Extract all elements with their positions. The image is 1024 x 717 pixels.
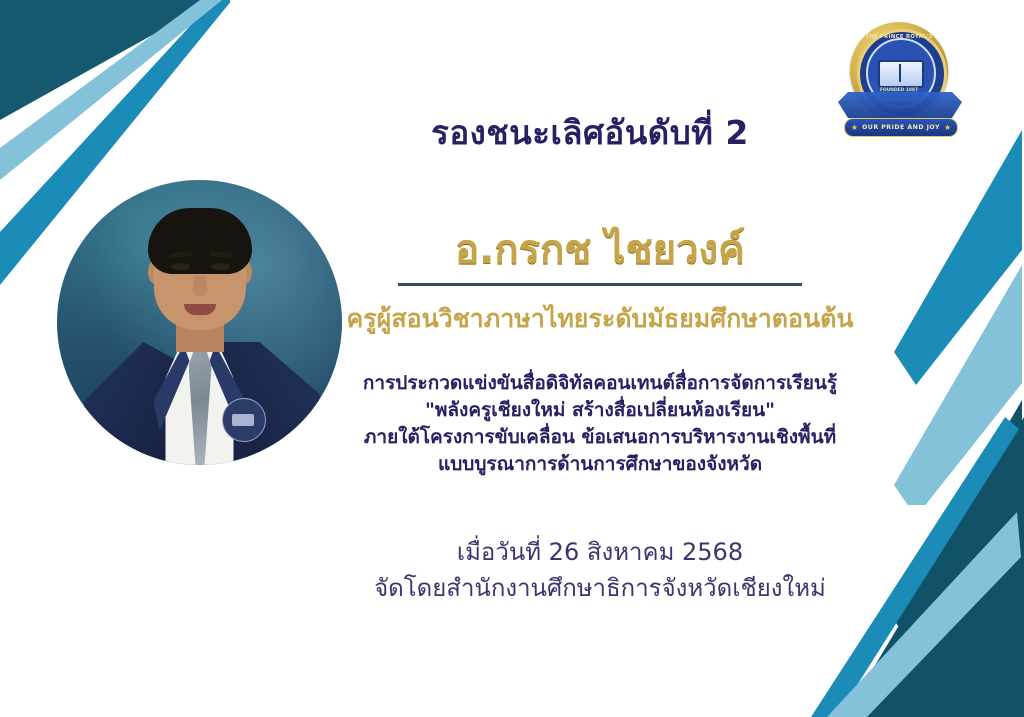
description-line-3: ภายใต้โครงการขับเคลื่อน ข้อเสนอการบริหาร… [330, 424, 870, 451]
star-icon-right: ★ [944, 124, 951, 132]
portrait-eye-right [211, 263, 230, 270]
decoration-top-left-dark-chevron [0, 0, 230, 130]
description-line-4: แบบบูรณาการด้านการศึกษาของจังหวัด [330, 451, 870, 478]
portrait-mouth [184, 304, 216, 315]
award-certificate: THE PRINCE ROYAL'S COLLEGE FOUNDED 1887 … [0, 0, 1024, 717]
logo-motto-banner: ★ OUR PRIDE AND JOY ★ [844, 118, 958, 137]
decoration-right-light-chevron [894, 265, 1024, 505]
recipient-role: ครูผู้สอนวิชาภาษาไทยระดับมัธยมศึกษาตอนต้… [320, 303, 880, 336]
portrait-eye-left [171, 263, 190, 270]
award-date: เมื่อวันที่ 26 สิงหาคม 2568 [330, 534, 870, 570]
open-book-icon [878, 60, 924, 88]
decoration-top-left-light-chevron [0, 0, 230, 200]
recipient-portrait-photo [57, 180, 342, 465]
description-line-2: "พลังครูเชียงใหม่ สร้างสื่อเปลี่ยนห้องเร… [330, 397, 870, 424]
logo-banner-label: OUR PRIDE AND JOY [862, 124, 940, 131]
award-footer: เมื่อวันที่ 26 สิงหาคม 2568 จัดโดยสำนักง… [330, 534, 870, 606]
portrait-hair [148, 208, 252, 274]
name-underline-rule [398, 283, 802, 286]
award-organizer: จัดโดยสำนักงานศึกษาธิการจังหวัดเชียงใหม่ [330, 570, 870, 606]
school-logo: THE PRINCE ROYAL'S COLLEGE FOUNDED 1887 … [838, 22, 962, 142]
portrait-nose [193, 276, 207, 296]
decoration-right-mid-chevron [894, 130, 1024, 400]
recipient-name: อ.กรกช ไชยวงค์ [330, 226, 870, 274]
award-title: รองชนะเลิศอันดับที่ 2 [330, 112, 850, 153]
description-line-1: การประกวดแข่งขันสื่อดิจิทัลคอนเทนต์สื่อก… [330, 370, 870, 397]
star-icon-left: ★ [851, 124, 858, 132]
decoration-right-dark-chevron [894, 400, 1024, 650]
award-description: การประกวดแข่งขันสื่อดิจิทัลคอนเทนต์สื่อก… [330, 370, 870, 478]
logo-ribbon [838, 92, 962, 118]
portrait-school-crest-badge [222, 398, 266, 442]
